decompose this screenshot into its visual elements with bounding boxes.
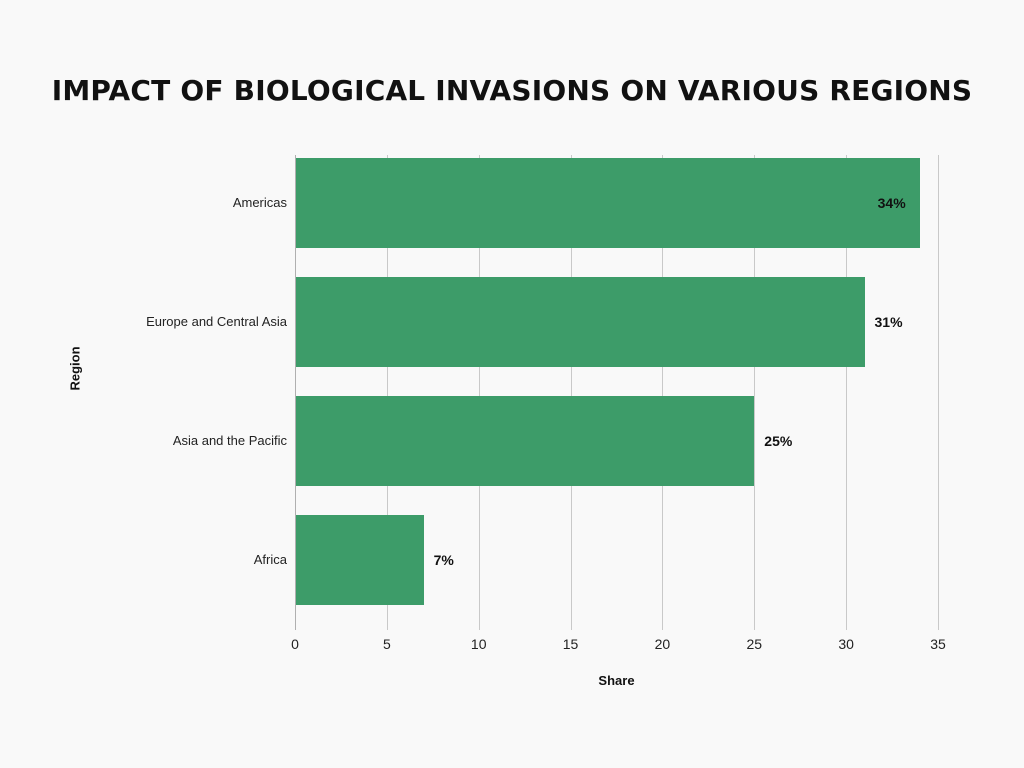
x-tick-label: 5 (383, 636, 391, 652)
bar-value-label: 34% (878, 195, 906, 211)
x-tick-label: 25 (746, 636, 762, 652)
bar-row: 7% (295, 515, 938, 605)
bar-value-label: 7% (434, 552, 454, 568)
x-tick-label: 10 (471, 636, 487, 652)
y-tick-label: Americas (80, 195, 287, 210)
bar-chart-figure: IMPACT OF BIOLOGICAL INVASIONS ON VARIOU… (0, 0, 1024, 768)
bar[interactable] (295, 158, 920, 248)
x-tick-label: 30 (838, 636, 854, 652)
y-axis-line (295, 155, 296, 630)
gridline-35 (938, 155, 939, 630)
y-axis-title: Region (68, 367, 83, 391)
y-tick-label: Africa (80, 552, 287, 567)
plot-area: 34%31%25%7% (295, 155, 938, 630)
x-tick-label: 20 (655, 636, 671, 652)
x-tick-label: 15 (563, 636, 579, 652)
x-axis-title: Share (295, 673, 938, 688)
bar-row: 34% (295, 158, 938, 248)
y-tick-label: Asia and the Pacific (80, 433, 287, 448)
bar[interactable] (295, 515, 424, 605)
y-tick-label: Europe and Central Asia (80, 314, 287, 329)
x-tick-label: 0 (291, 636, 299, 652)
bar-value-label: 31% (875, 314, 903, 330)
bar[interactable] (295, 277, 865, 367)
bar[interactable] (295, 396, 754, 486)
bar-row: 25% (295, 396, 938, 486)
x-tick-label: 35 (930, 636, 946, 652)
bar-row: 31% (295, 277, 938, 367)
bar-value-label: 25% (764, 433, 792, 449)
chart-title: IMPACT OF BIOLOGICAL INVASIONS ON VARIOU… (0, 74, 1024, 107)
